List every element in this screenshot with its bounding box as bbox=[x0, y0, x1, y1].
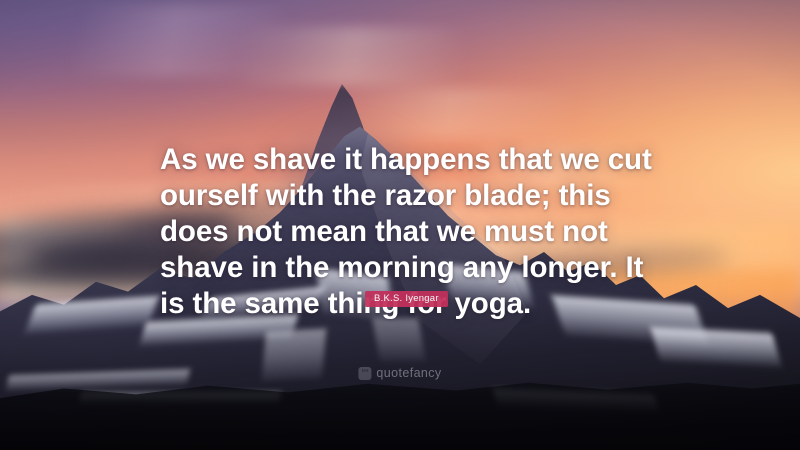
watermark: ““ quotefancy bbox=[358, 366, 441, 380]
overlay-content: As we shave it happens that we cut ourse… bbox=[0, 0, 800, 450]
quote-wallpaper-card: As we shave it happens that we cut ourse… bbox=[0, 0, 800, 450]
quote-mark-logo-icon: ““ bbox=[358, 367, 371, 380]
author-badge: B.K.S. Iyengar bbox=[365, 291, 448, 307]
watermark-brand-label: quotefancy bbox=[376, 366, 441, 380]
